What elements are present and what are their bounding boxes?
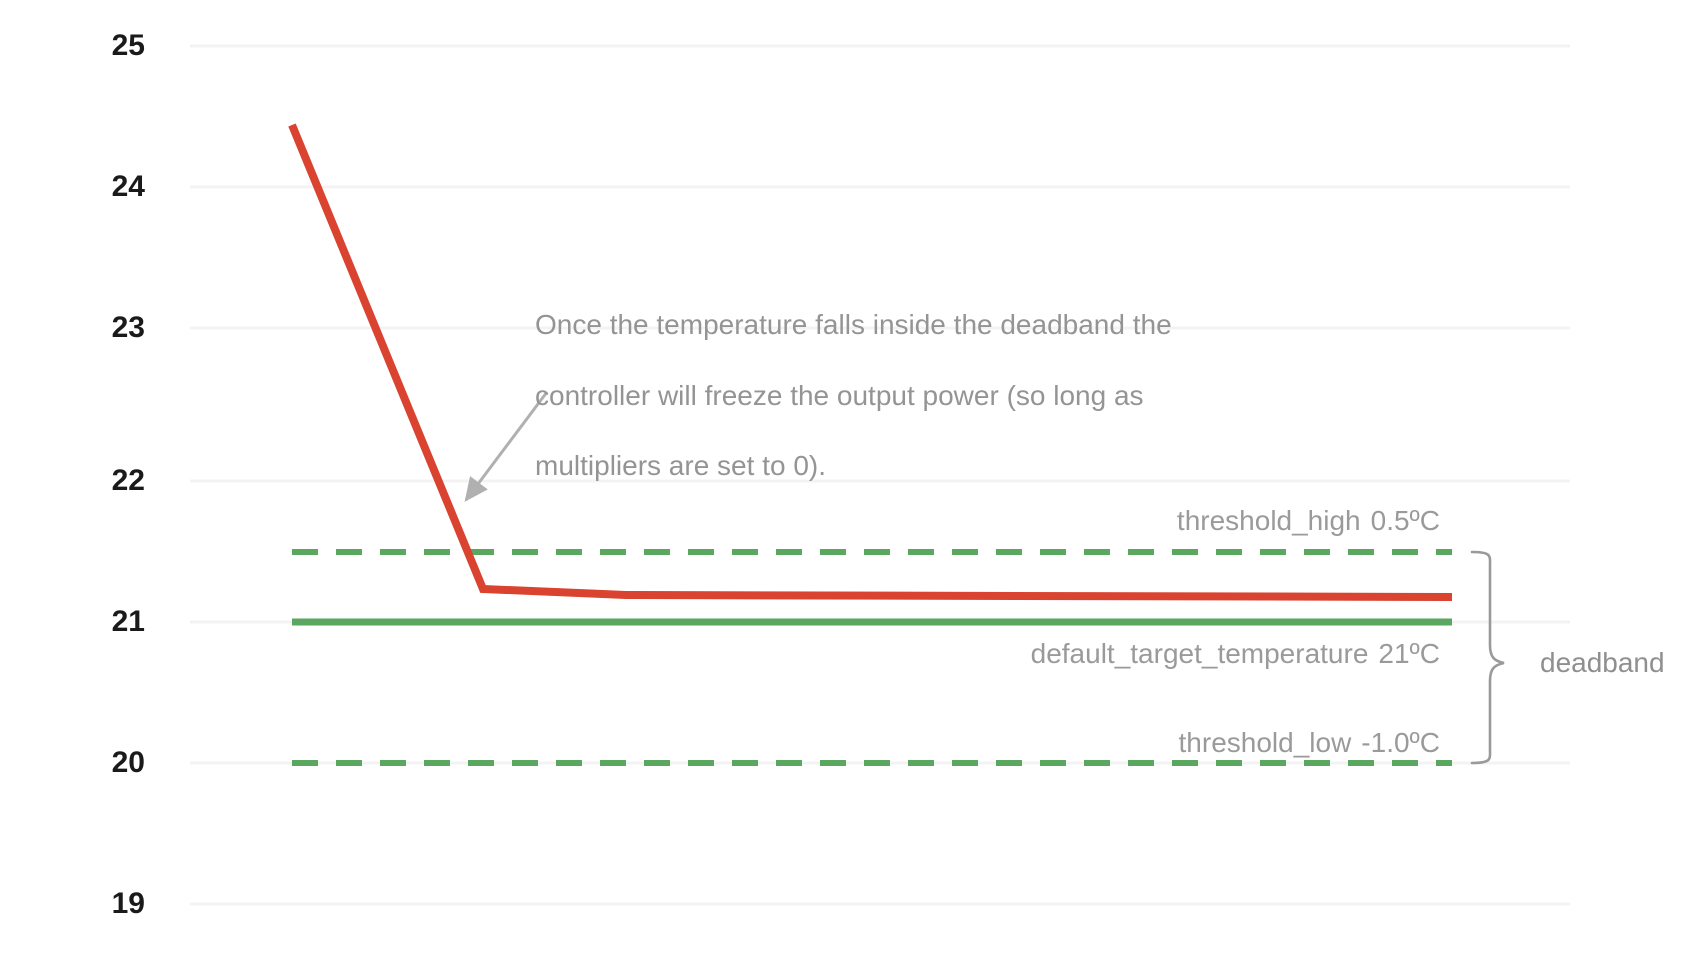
target-temperature-label: default_target_temperature21ºC: [820, 638, 1440, 670]
target-temperature-label-value: 21ºC: [1378, 638, 1440, 669]
threshold-low-label: threshold_low-1.0ºC: [900, 727, 1440, 759]
annotation-line-2: controller will freeze the output power …: [535, 378, 1235, 413]
annotation-line-3: multipliers are set to 0).: [535, 448, 1235, 483]
threshold-low-label-name: threshold_low: [1179, 727, 1352, 758]
deadband-brace: [1472, 552, 1504, 763]
threshold-high-label-name: threshold_high: [1177, 505, 1361, 536]
threshold-low-label-value: -1.0ºC: [1361, 727, 1440, 758]
chart-canvas: 25 24 23 22 21 20 19 Temperature: [0, 0, 1700, 960]
target-temperature-label-name: default_target_temperature: [1031, 638, 1369, 669]
deadband-label: deadband: [1540, 647, 1665, 679]
annotation-line-1: Once the temperature falls inside the de…: [535, 307, 1235, 342]
threshold-high-label-value: 0.5ºC: [1371, 505, 1440, 536]
threshold-high-label: threshold_high0.5ºC: [900, 505, 1440, 537]
deadband-annotation-note: Once the temperature falls inside the de…: [535, 272, 1235, 519]
